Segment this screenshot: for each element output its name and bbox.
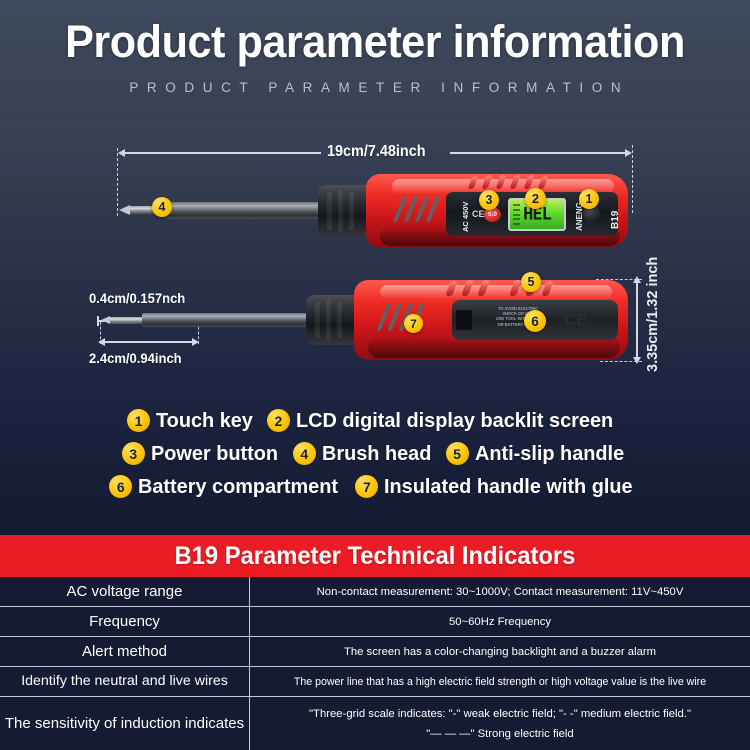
legend-badge-2: 2 — [267, 409, 290, 432]
page-subtitle: PRODUCT PARAMETER INFORMATION — [0, 80, 750, 95]
dim-arrow-left — [118, 149, 125, 157]
legend-label-7: Insulated handle with glue — [384, 475, 633, 499]
spec-value: 50~60Hz Frequency — [250, 607, 750, 636]
legend-item-4: 4 Brush head — [293, 442, 435, 466]
lcd-scale-bars — [513, 204, 520, 225]
legend-label-1: Touch key — [156, 409, 253, 433]
shaft — [142, 313, 312, 327]
page-title: Product parameter information — [15, 16, 735, 68]
spec-value: "Three-grid scale indicates: "-" weak el… — [309, 706, 691, 722]
spec-table: AC voltage range Non-contact measurement… — [0, 577, 750, 750]
page-header: Product parameter information PRODUCT PA… — [0, 0, 750, 118]
legend-label-6: Battery compartment — [138, 475, 338, 499]
spec-table-banner: B19 Parameter Technical Indicators — [0, 535, 750, 577]
collar-rib — [315, 302, 320, 338]
spec-value: The screen has a color-changing backligh… — [250, 637, 750, 666]
brush-head-point — [101, 316, 110, 324]
callout-badge-7: 7 — [404, 314, 423, 333]
callout-badge-1: 1 — [579, 189, 599, 209]
dimension-tip-width-label: 0.4cm/0.157nch — [89, 290, 185, 306]
legend-badge-6: 6 — [109, 475, 132, 498]
dim-arrow-right — [625, 149, 632, 157]
table-row: Frequency 50~60Hz Frequency — [0, 607, 750, 637]
callout-badge-3: 3 — [479, 190, 499, 210]
dimension-length-label: 19cm/7.48inch — [327, 143, 426, 161]
ce-mark-icon: CE — [472, 209, 485, 219]
spec-value-group: "Three-grid scale indicates: "-" weak el… — [250, 697, 750, 750]
spec-label: Identify the neutral and live wires — [0, 667, 250, 696]
legend-badge-4: 4 — [293, 442, 316, 465]
battery-latch[interactable] — [456, 310, 472, 330]
voltage-rating-label: AC 450V — [462, 202, 470, 232]
spec-value-line2: "— — —" Strong electric field — [426, 726, 573, 742]
collar-rib — [327, 192, 332, 230]
callout-legend: 1 Touch key 2 LCD digital display backli… — [0, 404, 750, 503]
dim-arrow-up — [633, 276, 641, 283]
collar-rib — [349, 192, 354, 230]
model-label: B19 — [610, 211, 621, 229]
dim-arrow-down — [633, 357, 641, 364]
spec-value: Non-contact measurement: 30~1000V; Conta… — [250, 577, 750, 606]
spec-value: The power line that has a high electric … — [250, 667, 750, 696]
spec-label: Alert method — [0, 637, 250, 666]
table-row: AC voltage range Non-contact measurement… — [0, 577, 750, 607]
collar-rib — [338, 190, 343, 232]
legend-item-5: 5 Anti-slip handle — [446, 442, 629, 466]
legend-label-4: Brush head — [322, 442, 431, 466]
callout-badge-5: 5 — [521, 272, 541, 292]
collar-rib — [326, 300, 331, 340]
callout-badge-2: 2 — [525, 188, 546, 209]
legend-item-3: 3 Power button — [122, 442, 282, 466]
handle-highlight — [380, 285, 612, 299]
legend-label-2: LCD digital display backlit screen — [296, 409, 613, 433]
legend-label-5: Anti-slip handle — [475, 442, 624, 466]
brush-head-tip — [110, 317, 144, 324]
shaft — [166, 202, 324, 219]
dim-line-height — [636, 282, 638, 358]
dim-line-19cm-left — [121, 152, 321, 154]
legend-badge-1: 1 — [127, 409, 150, 432]
table-row: Alert method The screen has a color-chan… — [0, 637, 750, 667]
dimension-height-label: 3.35cm/1.32 inch — [645, 257, 661, 372]
spec-label: AC voltage range — [0, 577, 250, 606]
legend-row-3: 6 Battery compartment 7 Insulated handle… — [0, 470, 750, 503]
legend-item-7: 7 Insulated handle with glue — [355, 475, 640, 499]
dim-arrow-tip-right — [192, 338, 199, 346]
legend-item-1: 1 Touch key — [127, 409, 256, 433]
brush-head-point — [119, 205, 130, 215]
callout-badge-4: 4 — [152, 197, 172, 217]
legend-row-2: 3 Power button 4 Brush head 5 Anti-slip … — [0, 437, 750, 470]
legend-row-1: 1 Touch key 2 LCD digital display backli… — [0, 404, 750, 437]
battery-warning-text: TO AVOID ELECTRIC SHOCK DO NOT USE TOOL … — [476, 306, 560, 327]
spec-table-title: B19 Parameter Technical Indicators — [175, 542, 576, 571]
dim-line-19cm-right — [450, 152, 630, 154]
legend-badge-7: 7 — [355, 475, 378, 498]
legend-item-2: 2 LCD digital display backlit screen — [267, 409, 623, 433]
collar-rib — [337, 302, 342, 338]
spec-label: The sensitivity of induction indicates — [0, 697, 250, 750]
legend-badge-5: 5 — [446, 442, 469, 465]
legend-badge-3: 3 — [122, 442, 145, 465]
callout-badge-6: 6 — [524, 310, 546, 332]
legend-item-6: 6 Battery compartment — [109, 475, 344, 499]
table-row: Identify the neutral and live wires The … — [0, 667, 750, 697]
dim-line-tip-length — [101, 341, 197, 343]
dim-extension-right — [632, 145, 633, 213]
spec-label: Frequency — [0, 607, 250, 636]
dim-extension-left — [117, 148, 118, 216]
legend-label-3: Power button — [151, 442, 278, 466]
dimension-tip-length-label: 2.4cm/0.94inch — [89, 350, 182, 366]
ce-mark-icon: CE — [564, 310, 588, 330]
dim-arrow-tip-left — [98, 338, 105, 346]
table-row: The sensitivity of induction indicates "… — [0, 697, 750, 750]
